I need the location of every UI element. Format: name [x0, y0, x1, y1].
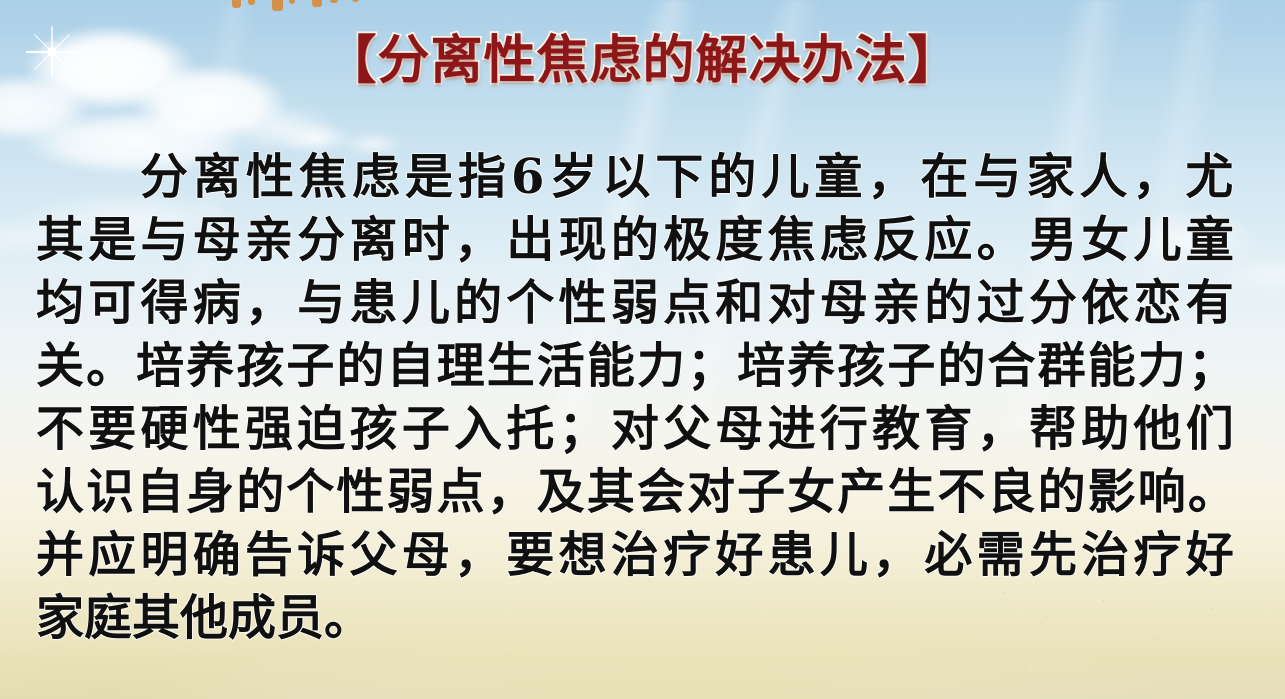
- body-line: 关。培养孩子的自理生活能力；培养孩子的合群能力；: [36, 335, 1238, 398]
- body-line: 认识自身的个性弱点，及其会对子女产生不良的影响。: [36, 461, 1238, 524]
- slide-canvas: 【分离性焦虑的解决办法】 分离性焦虑是指6岁以下的儿童，在与家人，尤 其是与母亲…: [0, 0, 1285, 699]
- body-line: 其是与母亲分离时，出现的极度焦虑反应。男女儿童: [36, 209, 1238, 272]
- slide-content: 【分离性焦虑的解决办法】 分离性焦虑是指6岁以下的儿童，在与家人，尤 其是与母亲…: [0, 0, 1285, 699]
- body-line: 均可得病，与患儿的个性弱点和对母亲的过分依恋有: [36, 272, 1238, 335]
- body-line: 分离性焦虑是指6岁以下的儿童，在与家人，尤: [36, 146, 1238, 209]
- body-paragraph: 分离性焦虑是指6岁以下的儿童，在与家人，尤 其是与母亲分离时，出现的极度焦虑反应…: [36, 146, 1238, 650]
- body-line: 并应明确告诉父母，要想治疗好患儿，必需先治疗好: [36, 524, 1238, 587]
- body-line: 不要硬性强迫孩子入托；对父母进行教育，帮助他们: [36, 398, 1238, 461]
- page-title: 【分离性焦虑的解决办法】: [0, 18, 1285, 93]
- body-line: 家庭其他成员。: [36, 587, 1238, 650]
